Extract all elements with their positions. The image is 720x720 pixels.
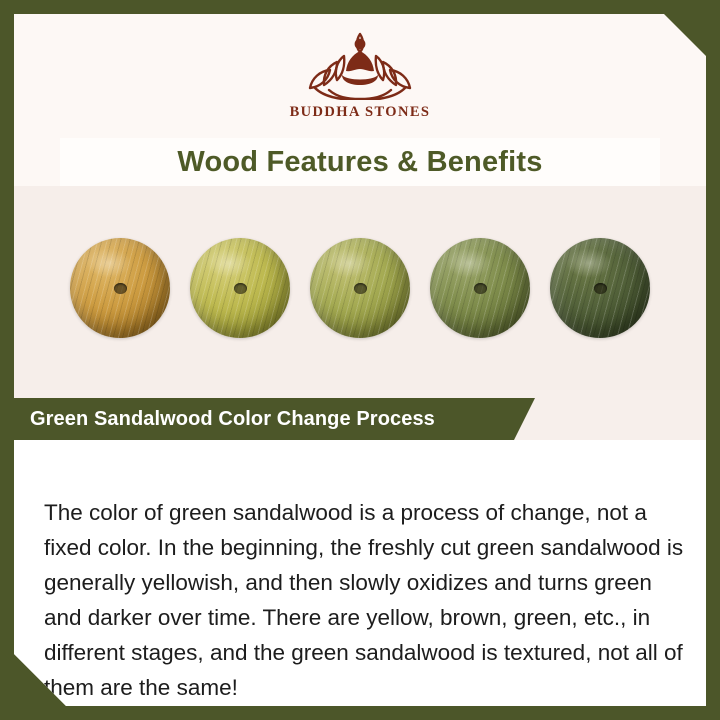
bead-highlight [326,248,372,278]
bead-stage-5 [550,238,650,338]
bead-stage-1 [70,238,170,338]
bead-stage-4 [430,238,530,338]
body-card: The color of green sandalwood is a proce… [14,440,706,706]
bead-stage-2 [190,238,290,338]
bead-highlight [206,248,252,278]
infographic-page: BUDDHA STONES Wood Features & Benefits [0,0,720,720]
body-paragraph: The color of green sandalwood is a proce… [44,495,684,705]
section-band-label: Green Sandalwood Color Change Process [14,408,435,431]
bead-highlight [446,248,492,278]
page-title-bar: Wood Features & Benefits [60,138,660,186]
brand-logo: BUDDHA STONES [14,28,706,121]
section-band: Green Sandalwood Color Change Process [14,398,514,440]
bead-hole [114,283,127,294]
bead-highlight [566,248,612,278]
buddha-lotus-logo-icon [285,28,435,100]
page-title: Wood Features & Benefits [177,146,542,179]
bead-hole [594,283,607,294]
bead-hole [474,283,487,294]
bead-color-stages [14,186,706,390]
bead-stage-3 [310,238,410,338]
bead-hole [354,283,367,294]
bead-highlight [86,248,132,278]
header-section: BUDDHA STONES Wood Features & Benefits [14,14,706,186]
bead-hole [234,283,247,294]
brand-name: BUDDHA STONES [14,104,706,121]
